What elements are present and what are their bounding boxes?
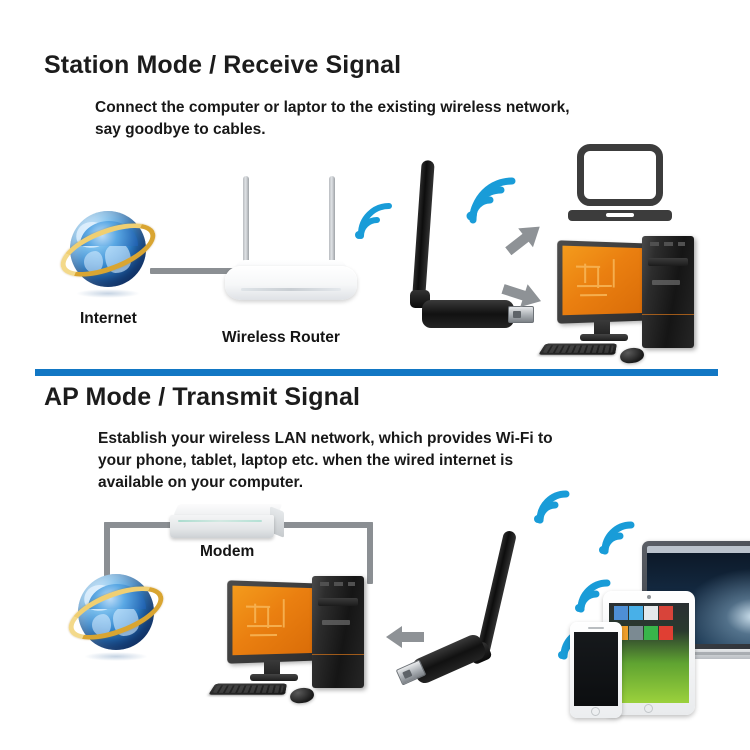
tablet-home-button[interactable] bbox=[644, 704, 653, 713]
wifi-signal-icon-1 bbox=[531, 489, 573, 527]
phone-screen bbox=[574, 632, 618, 706]
router-antenna-left bbox=[243, 176, 249, 264]
router-body bbox=[225, 266, 357, 300]
pc-keyboard bbox=[538, 344, 617, 355]
pc-tower-drive-bay bbox=[318, 598, 358, 606]
pc-monitor-base bbox=[580, 334, 628, 341]
pc-tower bbox=[312, 576, 364, 688]
pc-monitor-screen bbox=[232, 586, 314, 656]
wifi-signal-icon-router bbox=[349, 202, 395, 244]
usb-adapter-antenna bbox=[412, 160, 435, 301]
phone-speaker bbox=[588, 627, 604, 629]
smartphone-icon bbox=[570, 622, 622, 718]
globe-shadow bbox=[76, 289, 140, 298]
wifi-signal-icon-2 bbox=[596, 520, 638, 558]
ap-mode-description: Establish your wireless LAN network, whi… bbox=[98, 428, 553, 494]
station-mode-title: Station Mode / Receive Signal bbox=[44, 51, 401, 80]
ap-mode-desc-line-1: Establish your wireless LAN network, whi… bbox=[98, 428, 553, 450]
globe-icon bbox=[58, 203, 158, 299]
tablet-camera bbox=[647, 595, 651, 599]
station-mode-desc-line-1: Connect the computer or laptor to the ex… bbox=[95, 97, 570, 119]
pc-tower-logo bbox=[652, 280, 680, 285]
pc-screen-wallpaper bbox=[571, 254, 637, 307]
phone-home-button[interactable] bbox=[591, 707, 600, 716]
station-mode-desc-line-2: say goodbye to cables. bbox=[95, 119, 570, 141]
laptop-base bbox=[568, 210, 672, 221]
pc-screen-wallpaper bbox=[241, 594, 307, 647]
pc-mouse bbox=[619, 346, 645, 365]
wireless-router-label: Wireless Router bbox=[222, 329, 340, 347]
pc-monitor bbox=[557, 240, 651, 323]
pc-tower-accent-line bbox=[642, 314, 694, 315]
usb-adapter-body bbox=[410, 632, 488, 686]
product-infographic: Station Mode / Receive Signal Connect th… bbox=[0, 0, 750, 750]
pc-keyboard bbox=[208, 684, 287, 695]
pc-tower-drive-bay bbox=[648, 258, 688, 266]
globe-shadow bbox=[84, 652, 148, 661]
globe-icon-bottom bbox=[66, 566, 166, 662]
macbook-menubar bbox=[647, 546, 750, 553]
station-mode-description: Connect the computer or laptor to the ex… bbox=[95, 97, 570, 141]
wireless-router-icon bbox=[225, 176, 357, 300]
usb-adapter-body bbox=[422, 300, 514, 328]
modem-front bbox=[170, 515, 274, 538]
tablet-app-icons bbox=[612, 606, 686, 642]
desktop-pc-icon-top bbox=[558, 236, 708, 368]
pc-tower-logo bbox=[322, 620, 350, 625]
desktop-pc-icon-bottom bbox=[228, 576, 378, 708]
laptop-icon bbox=[568, 144, 672, 224]
usb-adapter-antenna bbox=[476, 530, 517, 656]
pc-mouse bbox=[289, 686, 315, 705]
pc-monitor-screen bbox=[562, 246, 644, 316]
ap-mode-title: AP Mode / Transmit Signal bbox=[44, 383, 360, 412]
pc-tower-accent-line bbox=[312, 654, 364, 655]
laptop-lid bbox=[577, 144, 663, 206]
phone-frame bbox=[570, 622, 622, 718]
cable-globe-to-modem bbox=[104, 522, 174, 528]
pc-tower bbox=[642, 236, 694, 348]
ap-mode-desc-line-3: available on your computer. bbox=[98, 472, 553, 494]
pc-monitor-base bbox=[250, 674, 298, 681]
section-divider bbox=[35, 369, 718, 376]
cable-pc-vertical bbox=[367, 522, 373, 584]
pc-tower-ports bbox=[320, 582, 356, 592]
pc-tower-ports bbox=[650, 242, 686, 252]
ap-mode-desc-line-2: your phone, tablet, laptop etc. when the… bbox=[98, 450, 553, 472]
usb-wifi-adapter-icon-bottom bbox=[398, 528, 538, 688]
router-antenna-right bbox=[329, 176, 335, 264]
pc-monitor bbox=[227, 580, 321, 663]
internet-label: Internet bbox=[80, 310, 137, 328]
modem-label: Modem bbox=[200, 543, 254, 561]
modem-icon bbox=[170, 503, 288, 543]
